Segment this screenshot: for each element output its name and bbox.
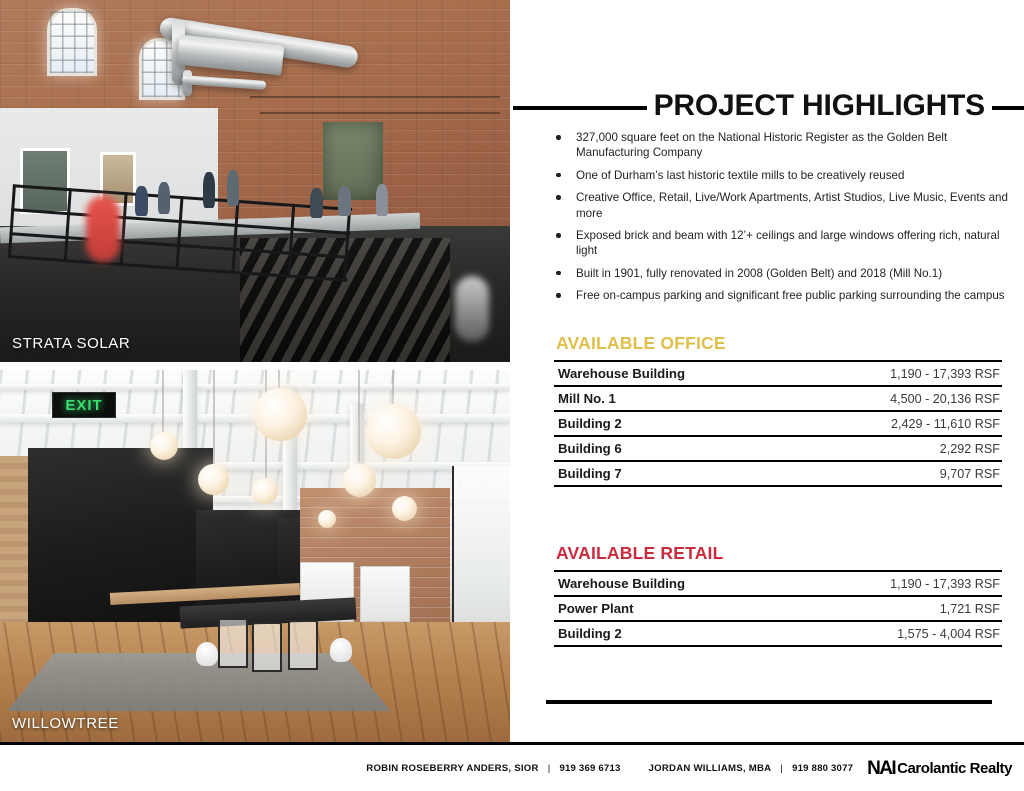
- pendant-globe-light: [252, 478, 278, 504]
- space-size: 4,500 - 20,136 RSF: [793, 386, 1002, 411]
- nai-logo-name: Carolantic Realty: [897, 761, 1012, 776]
- photo-willowtree: EXIT: [0, 370, 510, 742]
- green-door: [323, 122, 383, 200]
- space-size: 1,190 - 17,393 RSF: [793, 361, 1002, 386]
- contact-phone-2[interactable]: 919 880 3077: [792, 763, 853, 774]
- list-item: One of Durham’s last historic textile mi…: [548, 168, 1013, 183]
- page-title-row: PROJECT HIGHLIGHTS: [513, 86, 1024, 126]
- table-row: Building 6 2,292 RSF: [554, 436, 1002, 461]
- person-seated: [310, 188, 323, 218]
- section-heading-available-office: AVAILABLE OFFICE: [556, 334, 1002, 353]
- list-item: 327,000 square feet on the National Hist…: [548, 130, 1013, 161]
- section-available-office: AVAILABLE OFFICE Warehouse Building 1,19…: [554, 334, 1002, 487]
- table-row: Building 2 2,429 - 11,610 RSF: [554, 411, 1002, 436]
- exit-sign: EXIT: [52, 392, 116, 418]
- footer: ROBIN ROSEBERRY ANDERS, SIOR | 919 369 6…: [0, 745, 1024, 791]
- space-size: 2,292 RSF: [793, 436, 1002, 461]
- photo-column: STRATA SOLAR EXIT: [0, 0, 510, 742]
- nai-carolantic-realty-logo: NAI Carolantic Realty: [867, 759, 1012, 778]
- space-name: Building 2: [554, 621, 793, 646]
- space-name: Mill No. 1: [554, 386, 793, 411]
- project-highlights-list: 327,000 square feet on the National Hist…: [548, 130, 1013, 311]
- section-heading-available-retail: AVAILABLE RETAIL: [556, 544, 1002, 563]
- contact-name-1: ROBIN ROSEBERRY ANDERS, SIOR: [366, 763, 538, 774]
- ceiling-beam: [0, 384, 510, 390]
- bottom-heavy-rule: [546, 700, 992, 704]
- title-rule-right: [992, 106, 1024, 110]
- table-row: Warehouse Building 1,190 - 17,393 RSF: [554, 361, 1002, 386]
- section-available-retail: AVAILABLE RETAIL Warehouse Building 1,19…: [554, 544, 1002, 647]
- list-item: Exposed brick and beam with 12’+ ceiling…: [548, 228, 1013, 259]
- space-name: Power Plant: [554, 596, 793, 621]
- conduit-line: [250, 96, 500, 98]
- table-row: Power Plant 1,721 RSF: [554, 596, 1002, 621]
- photo-strata-solar: STRATA SOLAR: [0, 0, 510, 362]
- pendant-globe-light: [366, 404, 421, 459]
- list-item: Built in 1901, fully renovated in 2008 (…: [548, 266, 1013, 281]
- stool: [196, 642, 218, 666]
- photo-caption-willowtree: WILLOWTREE: [12, 715, 119, 732]
- pendant-globe-light: [343, 464, 376, 497]
- contact-name-2: JORDAN WILLIAMS, MBA: [649, 763, 772, 774]
- page-title: PROJECT HIGHLIGHTS: [654, 91, 985, 121]
- availability-table-retail: Warehouse Building 1,190 - 17,393 RSF Po…: [554, 570, 1002, 647]
- pendant-globe-light: [198, 464, 229, 495]
- table-row: Mill No. 1 4,500 - 20,136 RSF: [554, 386, 1002, 411]
- availability-table-office: Warehouse Building 1,190 - 17,393 RSF Mi…: [554, 360, 1002, 487]
- contact-separator: |: [548, 763, 551, 774]
- pendant-globe-light: [254, 388, 307, 441]
- footer-contacts: ROBIN ROSEBERRY ANDERS, SIOR | 919 369 6…: [366, 763, 853, 774]
- pendant-globe-light: [392, 496, 417, 521]
- chair: [252, 622, 282, 672]
- space-name: Building 7: [554, 461, 793, 486]
- contact-phone-1[interactable]: 919 369 6713: [559, 763, 620, 774]
- space-name: Building 6: [554, 436, 793, 461]
- person-blurred: [86, 196, 120, 262]
- person-standing: [227, 170, 239, 206]
- conduit-line: [260, 112, 500, 114]
- brochure-page: STRATA SOLAR EXIT: [0, 0, 1024, 791]
- title-rule-left: [513, 106, 647, 110]
- list-item: Free on-campus parking and significant f…: [548, 288, 1013, 303]
- contact-separator: |: [780, 763, 783, 774]
- space-name: Building 2: [554, 411, 793, 436]
- space-size: 1,190 - 17,393 RSF: [793, 571, 1002, 596]
- stool: [330, 638, 352, 662]
- nai-logo-mark: NAI: [867, 759, 895, 778]
- pendant-globe-light: [318, 510, 336, 528]
- space-size: 9,707 RSF: [793, 461, 1002, 486]
- person-seated: [158, 182, 170, 214]
- person-seated: [376, 184, 388, 216]
- space-size: 2,429 - 11,610 RSF: [793, 411, 1002, 436]
- chair: [288, 620, 318, 670]
- white-partition: [360, 566, 410, 622]
- space-size: 1,575 - 4,004 RSF: [793, 621, 1002, 646]
- list-item: Creative Office, Retail, Live/Work Apart…: [548, 190, 1013, 221]
- person-standing: [203, 172, 215, 208]
- photo-caption-strata-solar: STRATA SOLAR: [12, 335, 130, 352]
- table-row: Warehouse Building 1,190 - 17,393 RSF: [554, 571, 1002, 596]
- space-name: Warehouse Building: [554, 571, 793, 596]
- space-name: Warehouse Building: [554, 361, 793, 386]
- person-blurred: [455, 276, 489, 342]
- person-seated: [338, 186, 351, 216]
- content-column: PROJECT HIGHLIGHTS 327,000 square feet o…: [510, 0, 1024, 742]
- chair: [218, 618, 248, 668]
- table-row: Building 7 9,707 RSF: [554, 461, 1002, 486]
- pendant-globe-light: [150, 432, 178, 460]
- table-row: Building 2 1,575 - 4,004 RSF: [554, 621, 1002, 646]
- arched-window: [47, 8, 97, 76]
- space-size: 1,721 RSF: [793, 596, 1002, 621]
- person-seated: [135, 186, 148, 216]
